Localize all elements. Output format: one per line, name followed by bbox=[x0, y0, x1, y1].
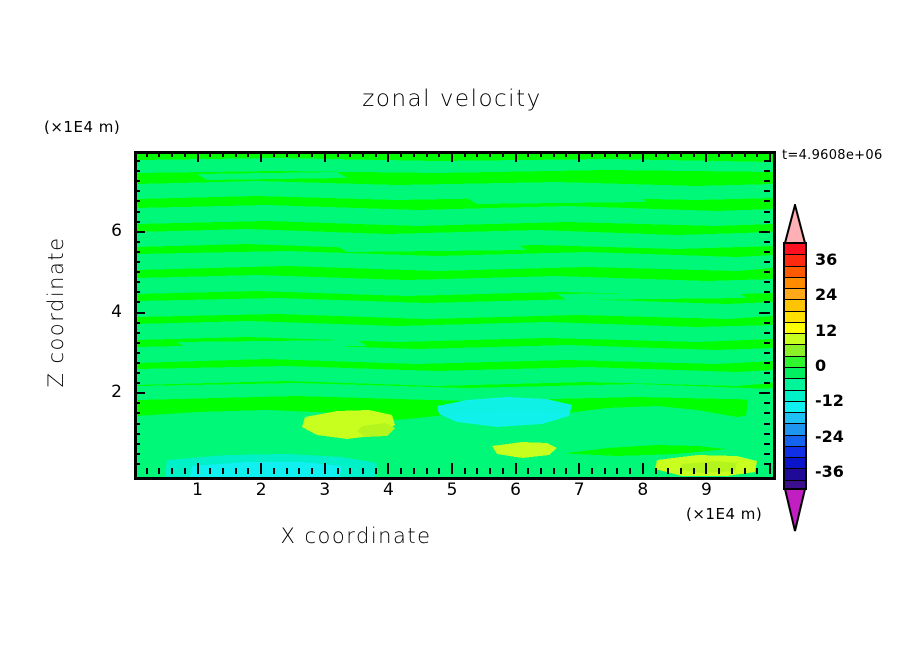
x-tick-label: 8 bbox=[623, 480, 663, 500]
y-minor-tick-right bbox=[764, 221, 770, 223]
x-major-tick-top bbox=[515, 151, 517, 162]
x-minor-tick bbox=[667, 468, 669, 474]
colorbar-band bbox=[785, 300, 805, 311]
y-minor-tick bbox=[134, 211, 140, 213]
colorbar-band bbox=[785, 436, 805, 447]
x-minor-tick bbox=[616, 468, 618, 474]
x-minor-tick-top bbox=[286, 151, 288, 157]
x-minor-tick bbox=[527, 468, 529, 474]
x-minor-tick bbox=[235, 468, 237, 474]
y-major-tick-right bbox=[759, 231, 770, 233]
x-major-tick bbox=[642, 463, 644, 474]
x-tick-label: 9 bbox=[686, 480, 726, 500]
x-major-tick-top bbox=[451, 151, 453, 162]
x-axis-title: X coordinate bbox=[0, 524, 712, 548]
y-minor-tick bbox=[134, 241, 140, 243]
y-minor-tick bbox=[134, 190, 140, 192]
y-minor-tick-right bbox=[764, 190, 770, 192]
y-minor-tick bbox=[134, 453, 140, 455]
x-minor-tick bbox=[553, 468, 555, 474]
colorbar-over-arrow bbox=[783, 204, 807, 244]
colorbar: 3624120-12-24-36 bbox=[783, 204, 807, 528]
x-minor-tick bbox=[476, 468, 478, 474]
x-minor-tick bbox=[209, 468, 211, 474]
x-minor-tick-top bbox=[616, 151, 618, 157]
x-minor-tick bbox=[146, 468, 148, 474]
y-minor-tick-right bbox=[764, 261, 770, 263]
x-major-tick bbox=[515, 463, 517, 474]
x-major-tick-top bbox=[387, 151, 389, 162]
y-minor-tick bbox=[134, 261, 140, 263]
x-minor-tick bbox=[629, 468, 631, 474]
y-tick-label: 4 bbox=[82, 302, 122, 322]
colorbar-band bbox=[785, 278, 805, 289]
x-minor-tick bbox=[273, 468, 275, 474]
x-minor-tick bbox=[489, 468, 491, 474]
x-major-tick bbox=[387, 463, 389, 474]
x-minor-tick bbox=[222, 468, 224, 474]
x-minor-tick bbox=[158, 468, 160, 474]
y-minor-tick-right bbox=[764, 352, 770, 354]
x-minor-tick-top bbox=[311, 151, 313, 157]
x-tick-label: 7 bbox=[559, 480, 599, 500]
x-minor-tick-top bbox=[349, 151, 351, 157]
colorbar-band bbox=[785, 402, 805, 413]
y-minor-tick bbox=[134, 221, 140, 223]
x-minor-tick bbox=[693, 468, 695, 474]
x-minor-tick-top bbox=[744, 151, 746, 157]
y-minor-tick-right bbox=[764, 180, 770, 182]
y-minor-tick bbox=[134, 281, 140, 283]
colorbar-band bbox=[785, 458, 805, 469]
y-minor-tick-right bbox=[764, 362, 770, 364]
y-minor-tick-right bbox=[764, 281, 770, 283]
colorbar-band bbox=[785, 267, 805, 278]
x-minor-tick-top bbox=[489, 151, 491, 157]
y-minor-tick bbox=[134, 443, 140, 445]
colorbar-band bbox=[785, 357, 805, 368]
x-minor-tick-top bbox=[235, 151, 237, 157]
y-minor-tick-right bbox=[764, 200, 770, 202]
chart-title: zonal velocity bbox=[0, 86, 904, 112]
x-minor-tick bbox=[286, 468, 288, 474]
x-minor-tick bbox=[464, 468, 466, 474]
y-minor-tick-right bbox=[764, 170, 770, 172]
x-minor-tick-top bbox=[273, 151, 275, 157]
x-tick-label: 4 bbox=[368, 480, 408, 500]
x-major-tick-top bbox=[578, 151, 580, 162]
x-major-tick-top bbox=[197, 151, 199, 162]
contour-plot-area bbox=[134, 151, 776, 480]
y-minor-tick-right bbox=[764, 412, 770, 414]
x-minor-tick-top bbox=[426, 151, 428, 157]
colorbar-band bbox=[785, 413, 805, 424]
x-minor-tick bbox=[247, 468, 249, 474]
x-minor-tick-top bbox=[527, 151, 529, 157]
x-major-tick bbox=[260, 463, 262, 474]
x-minor-tick-top bbox=[222, 151, 224, 157]
x-minor-tick bbox=[731, 468, 733, 474]
colorbar-tick-label: -24 bbox=[815, 427, 844, 446]
x-minor-tick-top bbox=[502, 151, 504, 157]
x-axis-unit-label: (×1E4 m) bbox=[686, 505, 762, 523]
x-minor-tick bbox=[502, 468, 504, 474]
x-minor-tick-top bbox=[438, 151, 440, 157]
y-minor-tick-right bbox=[764, 453, 770, 455]
x-minor-tick-top bbox=[362, 151, 364, 157]
x-minor-tick bbox=[718, 468, 720, 474]
x-minor-tick-top bbox=[693, 151, 695, 157]
y-minor-tick-right bbox=[764, 423, 770, 425]
y-minor-tick bbox=[134, 342, 140, 344]
x-minor-tick bbox=[171, 468, 173, 474]
x-minor-tick bbox=[591, 468, 593, 474]
y-minor-tick bbox=[134, 433, 140, 435]
y-minor-tick bbox=[134, 291, 140, 293]
y-minor-tick-right bbox=[764, 342, 770, 344]
y-minor-tick bbox=[134, 160, 140, 162]
x-minor-tick-top bbox=[731, 151, 733, 157]
x-tick-label: 6 bbox=[496, 480, 536, 500]
x-minor-tick-top bbox=[604, 151, 606, 157]
y-minor-tick bbox=[134, 301, 140, 303]
y-major-tick-right bbox=[759, 392, 770, 394]
x-minor-tick-top bbox=[337, 151, 339, 157]
y-minor-tick bbox=[134, 251, 140, 253]
x-minor-tick bbox=[375, 468, 377, 474]
colorbar-tick-label: 24 bbox=[815, 285, 837, 304]
x-minor-tick bbox=[756, 468, 758, 474]
x-minor-tick-top bbox=[718, 151, 720, 157]
y-minor-tick bbox=[134, 382, 140, 384]
y-minor-tick-right bbox=[764, 332, 770, 334]
x-minor-tick bbox=[540, 468, 542, 474]
y-minor-tick-right bbox=[764, 402, 770, 404]
y-axis-unit-label: (×1E4 m) bbox=[44, 118, 120, 136]
y-minor-tick bbox=[134, 271, 140, 273]
y-minor-tick bbox=[134, 372, 140, 374]
x-minor-tick bbox=[680, 468, 682, 474]
x-minor-tick-top bbox=[375, 151, 377, 157]
y-minor-tick-right bbox=[764, 372, 770, 374]
y-minor-tick bbox=[134, 352, 140, 354]
x-major-tick bbox=[705, 463, 707, 474]
x-minor-tick-top bbox=[553, 151, 555, 157]
colorbar-band bbox=[785, 368, 805, 379]
colorbar-band bbox=[785, 379, 805, 390]
x-minor-tick-top bbox=[565, 151, 567, 157]
x-minor-tick-top bbox=[629, 151, 631, 157]
x-minor-tick-top bbox=[171, 151, 173, 157]
colorbar-band bbox=[785, 289, 805, 300]
x-minor-tick-top bbox=[298, 151, 300, 157]
colorbar-tick-label: 36 bbox=[815, 250, 837, 269]
x-major-tick bbox=[324, 463, 326, 474]
x-major-tick bbox=[451, 463, 453, 474]
x-minor-tick-top bbox=[655, 151, 657, 157]
x-minor-tick-top bbox=[464, 151, 466, 157]
x-minor-tick-top bbox=[146, 151, 148, 157]
y-minor-tick-right bbox=[764, 251, 770, 253]
x-minor-tick-top bbox=[413, 151, 415, 157]
y-minor-tick bbox=[134, 332, 140, 334]
x-major-tick-top bbox=[642, 151, 644, 162]
x-minor-tick bbox=[426, 468, 428, 474]
x-minor-tick-top bbox=[591, 151, 593, 157]
x-tick-label: 2 bbox=[241, 480, 281, 500]
y-minor-tick-right bbox=[764, 211, 770, 213]
y-minor-tick-right bbox=[764, 463, 770, 465]
x-minor-tick bbox=[184, 468, 186, 474]
colorbar-band bbox=[785, 323, 805, 334]
x-minor-tick bbox=[744, 468, 746, 474]
x-minor-tick-top bbox=[400, 151, 402, 157]
x-minor-tick bbox=[604, 468, 606, 474]
velocity-field bbox=[137, 154, 773, 477]
x-major-tick-top bbox=[260, 151, 262, 162]
y-major-tick-right bbox=[759, 312, 770, 314]
y-minor-tick bbox=[134, 402, 140, 404]
x-minor-tick-top bbox=[247, 151, 249, 157]
colorbar-band bbox=[785, 447, 805, 458]
x-minor-tick-top bbox=[680, 151, 682, 157]
x-major-tick-top bbox=[324, 151, 326, 162]
x-minor-tick bbox=[298, 468, 300, 474]
y-minor-tick-right bbox=[764, 433, 770, 435]
x-minor-tick bbox=[400, 468, 402, 474]
x-tick-label: 1 bbox=[178, 480, 218, 500]
x-minor-tick-top bbox=[540, 151, 542, 157]
x-minor-tick bbox=[349, 468, 351, 474]
x-minor-tick-top bbox=[667, 151, 669, 157]
y-minor-tick-right bbox=[764, 382, 770, 384]
y-minor-tick bbox=[134, 170, 140, 172]
colorbar-under-arrow bbox=[783, 488, 807, 532]
y-minor-tick bbox=[134, 200, 140, 202]
y-tick-label: 6 bbox=[82, 221, 122, 241]
y-minor-tick bbox=[134, 362, 140, 364]
x-major-tick bbox=[578, 463, 580, 474]
y-minor-tick bbox=[134, 463, 140, 465]
x-minor-tick-top bbox=[158, 151, 160, 157]
y-minor-tick bbox=[134, 412, 140, 414]
y-minor-tick bbox=[134, 423, 140, 425]
colorbar-tick-label: 12 bbox=[815, 321, 837, 340]
y-major-tick bbox=[134, 392, 145, 394]
y-minor-tick bbox=[134, 322, 140, 324]
colorbar-tick-label: -36 bbox=[815, 462, 844, 481]
time-annotation: t=4.9608e+06 bbox=[782, 148, 883, 163]
colorbar-band bbox=[785, 312, 805, 323]
colorbar-band bbox=[785, 469, 805, 480]
x-minor-tick bbox=[655, 468, 657, 474]
colorbar-tick-label: 0 bbox=[815, 356, 826, 375]
y-minor-tick-right bbox=[764, 271, 770, 273]
x-minor-tick bbox=[337, 468, 339, 474]
x-minor-tick bbox=[565, 468, 567, 474]
y-minor-tick-right bbox=[764, 291, 770, 293]
colorbar-bands bbox=[783, 242, 807, 490]
y-minor-tick-right bbox=[764, 322, 770, 324]
x-minor-tick bbox=[311, 468, 313, 474]
x-minor-tick bbox=[413, 468, 415, 474]
colorbar-band bbox=[785, 345, 805, 356]
x-major-tick-top bbox=[705, 151, 707, 162]
y-axis-title: Z coordinate bbox=[44, 212, 68, 412]
y-minor-tick-right bbox=[764, 443, 770, 445]
colorbar-band bbox=[785, 334, 805, 345]
y-major-tick bbox=[134, 312, 145, 314]
x-minor-tick-top bbox=[476, 151, 478, 157]
y-minor-tick-right bbox=[764, 160, 770, 162]
colorbar-band bbox=[785, 391, 805, 402]
y-major-tick bbox=[134, 231, 145, 233]
x-major-tick bbox=[197, 463, 199, 474]
x-tick-label: 5 bbox=[432, 480, 472, 500]
figure-canvas: zonal velocity (×1E4 m) t=4.9608e+06 (×1… bbox=[0, 0, 904, 654]
y-minor-tick-right bbox=[764, 241, 770, 243]
x-minor-tick-top bbox=[756, 151, 758, 157]
y-minor-tick-right bbox=[764, 301, 770, 303]
x-minor-tick-top bbox=[209, 151, 211, 157]
colorbar-band bbox=[785, 255, 805, 266]
x-minor-tick bbox=[362, 468, 364, 474]
colorbar-tick-label: -12 bbox=[815, 391, 844, 410]
x-tick-label: 3 bbox=[305, 480, 345, 500]
y-minor-tick bbox=[134, 180, 140, 182]
colorbar-band bbox=[785, 424, 805, 435]
x-minor-tick-top bbox=[184, 151, 186, 157]
x-minor-tick bbox=[438, 468, 440, 474]
colorbar-band bbox=[785, 244, 805, 255]
y-tick-label: 2 bbox=[82, 382, 122, 402]
